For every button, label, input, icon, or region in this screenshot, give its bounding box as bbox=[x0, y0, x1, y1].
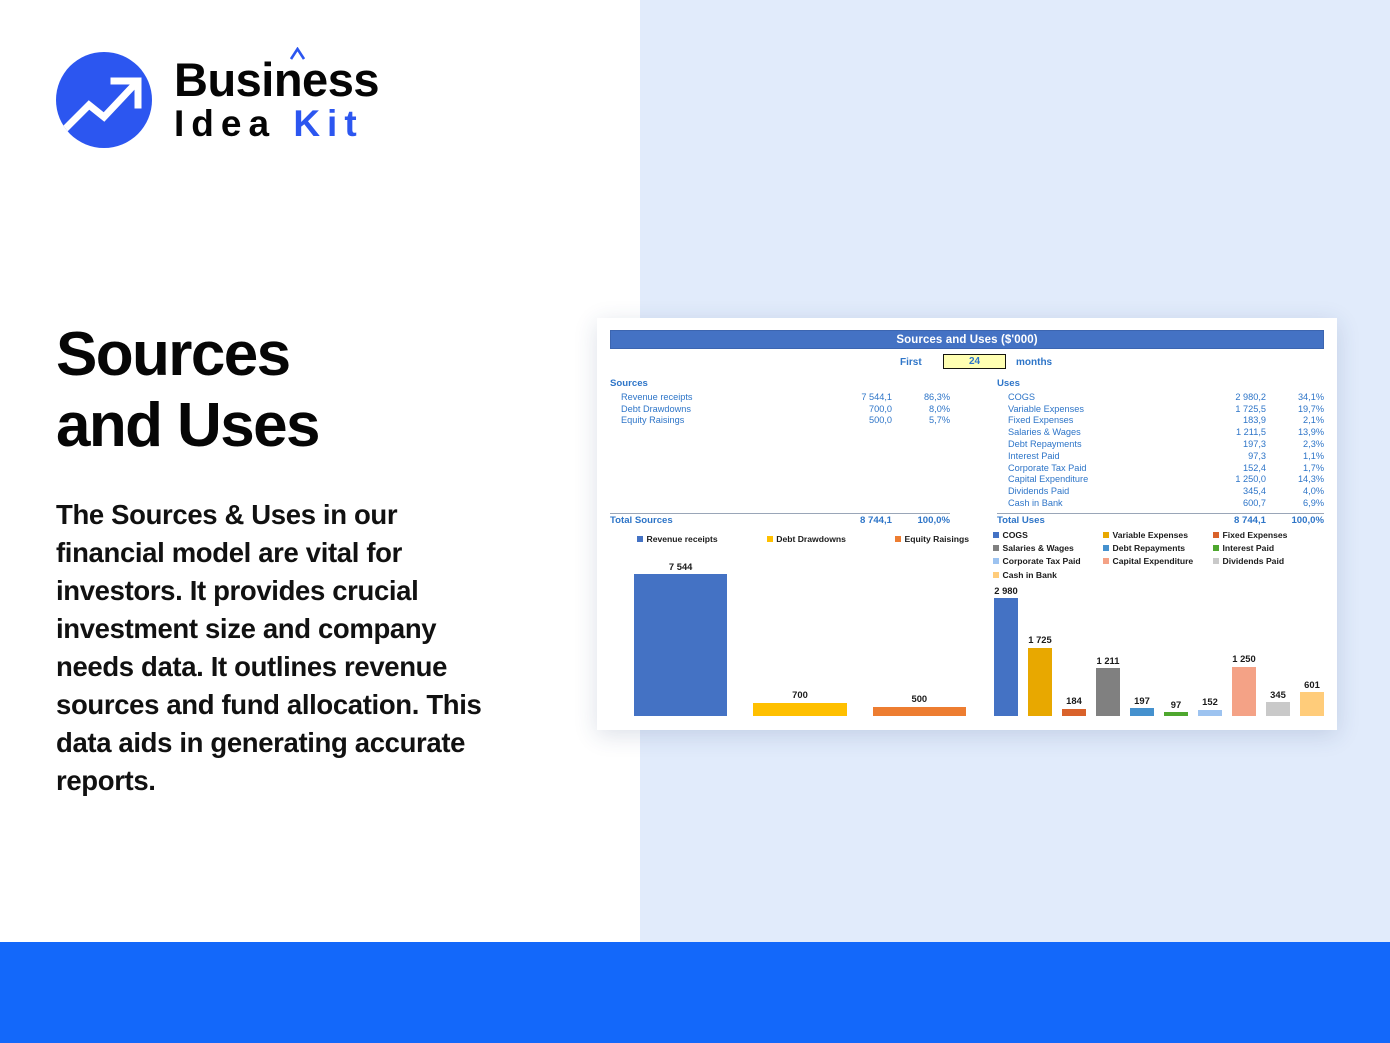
row-value: 600,7 bbox=[1184, 498, 1266, 508]
legend-label: Fixed Expenses bbox=[1223, 530, 1288, 540]
row-label: COGS bbox=[997, 392, 1184, 402]
row-percent: 2,3% bbox=[1266, 439, 1324, 449]
row-label: Equity Raisings bbox=[610, 415, 810, 425]
page-description: The Sources & Uses in our financial mode… bbox=[56, 496, 506, 800]
row-label: Cash in Bank bbox=[997, 498, 1184, 508]
row-percent: 5,7% bbox=[892, 415, 950, 425]
row-label: Corporate Tax Paid bbox=[997, 463, 1184, 473]
legend-row: Cash in Bank bbox=[993, 570, 1325, 580]
row-percent: 13,9% bbox=[1266, 427, 1324, 437]
table-row: Debt Drawdowns 700,0 8,0% bbox=[610, 403, 950, 415]
legend-item[interactable]: Debt Drawdowns bbox=[767, 534, 846, 544]
bar bbox=[1096, 668, 1119, 716]
table-row: Cash in Bank 600,7 6,9% bbox=[997, 497, 1324, 509]
legend-label: Equity Raisings bbox=[905, 534, 969, 544]
legend-swatch-icon bbox=[1213, 558, 1219, 564]
legend-label: Dividends Paid bbox=[1223, 556, 1285, 566]
legend-swatch-icon bbox=[993, 558, 999, 564]
brand-line-idea-kit: Idea Kit bbox=[174, 105, 379, 144]
months-input-row: First 24 months bbox=[610, 354, 1324, 371]
row-percent: 6,9% bbox=[1266, 498, 1324, 508]
bar bbox=[873, 707, 966, 716]
legend-label: Corporate Tax Paid bbox=[1003, 556, 1081, 566]
bar-group: 500 bbox=[860, 556, 979, 716]
row-value: 7 544,1 bbox=[810, 392, 892, 402]
row-label: Fixed Expenses bbox=[997, 415, 1184, 425]
bar bbox=[634, 574, 727, 716]
row-value: 97,3 bbox=[1184, 451, 1266, 461]
row-percent: 1,7% bbox=[1266, 463, 1324, 473]
row-percent: 4,0% bbox=[1266, 486, 1324, 496]
bar-group: 7 544 bbox=[621, 556, 740, 716]
row-percent: 1,1% bbox=[1266, 451, 1324, 461]
legend-label: Capital Expenditure bbox=[1113, 556, 1194, 566]
legend-swatch-icon bbox=[637, 536, 643, 542]
row-label: Salaries & Wages bbox=[997, 427, 1184, 437]
table-row: Salaries & Wages 1 211,5 13,9% bbox=[997, 426, 1324, 438]
table-row: Revenue receipts 7 544,1 86,3% bbox=[610, 391, 950, 403]
bar bbox=[753, 703, 846, 716]
uses-table-body: COGS 2 980,2 34,1% Variable Expenses 1 7… bbox=[997, 391, 1324, 509]
row-percent: 14,3% bbox=[1266, 474, 1324, 484]
legend-item[interactable]: Salaries & Wages bbox=[993, 543, 1103, 553]
row-label: Interest Paid bbox=[997, 451, 1184, 461]
bar bbox=[1300, 692, 1323, 716]
uses-bar-chart-plot: 2 9801 7251841 211197971521 250345601 bbox=[989, 580, 1329, 716]
bar-value-label: 1 250 bbox=[1232, 653, 1255, 664]
row-value: 345,4 bbox=[1184, 486, 1266, 496]
bar-group: 1 725 bbox=[1023, 580, 1057, 716]
legend-swatch-icon bbox=[1103, 558, 1109, 564]
legend-label: Salaries & Wages bbox=[1003, 543, 1074, 553]
legend-swatch-icon bbox=[1103, 532, 1109, 538]
legend-row: COGS Variable Expenses Fixed Expenses bbox=[993, 530, 1325, 540]
legend-item[interactable]: COGS bbox=[993, 530, 1103, 540]
sources-bar-chart: 7 544700500 bbox=[621, 556, 979, 716]
bar-group: 1 250 bbox=[1227, 580, 1261, 716]
table-row: Equity Raisings 500,0 5,7% bbox=[610, 415, 950, 427]
row-label: Total Sources bbox=[610, 515, 810, 526]
bar-value-label: 97 bbox=[1171, 699, 1181, 710]
trending-up-arrow-icon bbox=[56, 52, 152, 148]
row-value: 197,3 bbox=[1184, 439, 1266, 449]
legend-item[interactable]: Variable Expenses bbox=[1103, 530, 1213, 540]
legend-row: Salaries & Wages Debt Repayments Interes… bbox=[993, 543, 1325, 553]
table-row: Dividends Paid 345,4 4,0% bbox=[997, 485, 1324, 497]
sources-table-body: Revenue receipts 7 544,1 86,3% Debt Draw… bbox=[610, 391, 950, 426]
bar bbox=[1198, 710, 1221, 716]
brand-wordmark: Business Idea Kit bbox=[174, 56, 379, 144]
legend-swatch-icon bbox=[1213, 545, 1219, 551]
sources-table-spacer bbox=[610, 426, 950, 509]
bar-value-label: 700 bbox=[792, 689, 808, 700]
bar-group: 1 211 bbox=[1091, 580, 1125, 716]
bar-group: 97 bbox=[1159, 580, 1193, 716]
bar-value-label: 152 bbox=[1202, 696, 1218, 707]
row-label: Variable Expenses bbox=[997, 404, 1184, 414]
legend-item[interactable]: Dividends Paid bbox=[1213, 556, 1323, 566]
legend-swatch-icon bbox=[895, 536, 901, 542]
row-value: 1 725,5 bbox=[1184, 404, 1266, 414]
table-row: COGS 2 980,2 34,1% bbox=[997, 391, 1324, 403]
row-value: 152,4 bbox=[1184, 463, 1266, 473]
bottom-accent-bar bbox=[0, 942, 1390, 1043]
legend-swatch-icon bbox=[993, 545, 999, 551]
bar-value-label: 1 725 bbox=[1028, 634, 1051, 645]
legend-swatch-icon bbox=[1103, 545, 1109, 551]
legend-swatch-icon bbox=[993, 572, 999, 578]
row-value: 700,0 bbox=[810, 404, 892, 414]
brand-line-business-text: Business bbox=[174, 53, 379, 106]
sources-total-row: Total Sources 8 744,1 100,0% bbox=[610, 514, 950, 528]
circumflex-accent-icon bbox=[290, 47, 305, 60]
legend-row: Corporate Tax Paid Capital Expenditure D… bbox=[993, 556, 1325, 566]
bar-group: 700 bbox=[740, 556, 859, 716]
row-percent: 86,3% bbox=[892, 392, 950, 402]
row-value: 1 250,0 bbox=[1184, 474, 1266, 484]
row-percent: 100,0% bbox=[892, 515, 950, 526]
legend-item[interactable]: Capital Expenditure bbox=[1103, 556, 1213, 566]
table-row: Corporate Tax Paid 152,4 1,7% bbox=[997, 462, 1324, 474]
legend-label: Interest Paid bbox=[1223, 543, 1275, 553]
uses-table-header: Uses bbox=[997, 378, 1324, 389]
bar bbox=[1130, 708, 1153, 716]
sources-table-header: Sources bbox=[610, 378, 950, 389]
legend-label: Debt Drawdowns bbox=[776, 534, 846, 544]
bar-group: 345 bbox=[1261, 580, 1295, 716]
legend-swatch-icon bbox=[1213, 532, 1219, 538]
uses-table: Uses COGS 2 980,2 34,1% Variable Expense… bbox=[997, 378, 1324, 528]
months-unit-label: months bbox=[1016, 357, 1052, 368]
bar bbox=[994, 598, 1017, 716]
row-value: 183,9 bbox=[1184, 415, 1266, 425]
uses-total-row: Total Uses 8 744,1 100,0% bbox=[997, 514, 1324, 528]
legend-item[interactable]: Debt Repayments bbox=[1103, 543, 1213, 553]
row-percent: 2,1% bbox=[1266, 415, 1324, 425]
row-value: 500,0 bbox=[810, 415, 892, 425]
row-label: Debt Drawdowns bbox=[610, 404, 810, 414]
bar-value-label: 2 980 bbox=[994, 585, 1017, 596]
bar-value-label: 601 bbox=[1304, 679, 1320, 690]
brand-kit-text: Kit bbox=[293, 103, 363, 144]
legend-row: Revenue receipts Debt Drawdowns Equity R… bbox=[627, 534, 979, 544]
row-value: 8 744,1 bbox=[810, 515, 892, 526]
slide-root: Business Idea Kit Sources and Uses The S… bbox=[0, 0, 1390, 1043]
bar-group: 152 bbox=[1193, 580, 1227, 716]
brand-idea-text: Idea bbox=[174, 103, 293, 144]
uses-chart-legend: COGS Variable Expenses Fixed Expenses Sa… bbox=[993, 530, 1325, 583]
row-value: 2 980,2 bbox=[1184, 392, 1266, 402]
bar-value-label: 184 bbox=[1066, 695, 1082, 706]
legend-item[interactable]: Cash in Bank bbox=[993, 570, 1103, 580]
row-value: 1 211,5 bbox=[1184, 427, 1266, 437]
bar bbox=[1164, 712, 1187, 716]
bar bbox=[1062, 709, 1085, 716]
bar-group: 184 bbox=[1057, 580, 1091, 716]
row-label: Debt Repayments bbox=[997, 439, 1184, 449]
legend-item[interactable]: Interest Paid bbox=[1213, 543, 1323, 553]
legend-swatch-icon bbox=[993, 532, 999, 538]
legend-label: Variable Expenses bbox=[1113, 530, 1188, 540]
row-value: 8 744,1 bbox=[1184, 515, 1266, 526]
row-percent: 100,0% bbox=[1266, 515, 1324, 526]
legend-item[interactable]: Fixed Expenses bbox=[1213, 530, 1323, 540]
table-row: Debt Repayments 197,3 2,3% bbox=[997, 438, 1324, 450]
brand-logo[interactable]: Business Idea Kit bbox=[56, 52, 379, 148]
table-row: Capital Expenditure 1 250,0 14,3% bbox=[997, 474, 1324, 486]
uses-bar-chart: 2 9801 7251841 211197971521 250345601 bbox=[989, 580, 1329, 716]
page-title: Sources and Uses bbox=[56, 320, 576, 461]
row-percent: 34,1% bbox=[1266, 392, 1324, 402]
bar-value-label: 197 bbox=[1134, 695, 1150, 706]
bar-group: 197 bbox=[1125, 580, 1159, 716]
legend-label: Revenue receipts bbox=[647, 534, 718, 544]
panel-title-bar: Sources and Uses ($'000) bbox=[610, 330, 1324, 349]
sources-chart-legend: Revenue receipts Debt Drawdowns Equity R… bbox=[627, 534, 979, 544]
legend-item[interactable]: Corporate Tax Paid bbox=[993, 556, 1103, 566]
bar bbox=[1232, 667, 1255, 716]
bar bbox=[1028, 648, 1051, 716]
row-percent: 19,7% bbox=[1266, 404, 1324, 414]
bar bbox=[1266, 702, 1289, 716]
legend-item[interactable]: Revenue receipts bbox=[637, 534, 718, 544]
months-input[interactable]: 24 bbox=[943, 354, 1006, 369]
legend-swatch-icon bbox=[767, 536, 773, 542]
sources-and-uses-panel: Sources and Uses ($'000) First 24 months… bbox=[597, 318, 1337, 730]
row-label: Revenue receipts bbox=[610, 392, 810, 402]
legend-label: Debt Repayments bbox=[1113, 543, 1186, 553]
bar-value-label: 345 bbox=[1270, 689, 1286, 700]
row-label: Capital Expenditure bbox=[997, 474, 1184, 484]
sources-bar-chart-plot: 7 544700500 bbox=[621, 556, 979, 716]
bar-group: 2 980 bbox=[989, 580, 1023, 716]
legend-item[interactable]: Equity Raisings bbox=[895, 534, 969, 544]
row-percent: 8,0% bbox=[892, 404, 950, 414]
first-label: First bbox=[900, 357, 922, 368]
legend-label: COGS bbox=[1003, 530, 1028, 540]
legend-label: Cash in Bank bbox=[1003, 570, 1057, 580]
table-row: Fixed Expenses 183,9 2,1% bbox=[997, 415, 1324, 427]
brand-line-business: Business bbox=[174, 56, 379, 104]
table-row: Interest Paid 97,3 1,1% bbox=[997, 450, 1324, 462]
row-label: Total Uses bbox=[997, 515, 1184, 526]
bar-value-label: 7 544 bbox=[669, 561, 692, 572]
bar-value-label: 1 211 bbox=[1097, 655, 1120, 666]
bar-group: 601 bbox=[1295, 580, 1329, 716]
table-row: Variable Expenses 1 725,5 19,7% bbox=[997, 403, 1324, 415]
sources-table: Sources Revenue receipts 7 544,1 86,3% D… bbox=[610, 378, 950, 528]
row-label: Dividends Paid bbox=[997, 486, 1184, 496]
bar-value-label: 500 bbox=[911, 693, 927, 704]
